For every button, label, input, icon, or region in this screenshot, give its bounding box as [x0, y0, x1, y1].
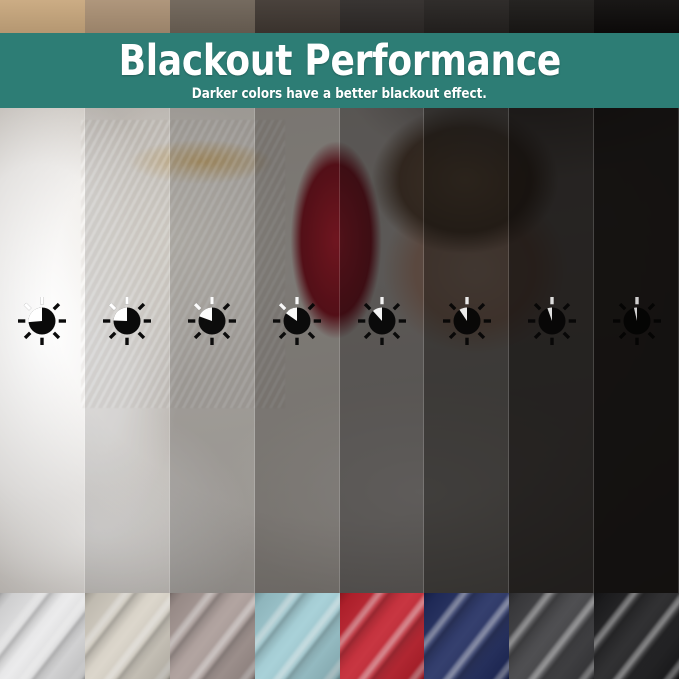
fabric-shading	[255, 593, 340, 679]
color-chip-near-black	[424, 0, 509, 33]
color-chip-black	[594, 0, 679, 33]
fabric-swatch-cream	[85, 593, 170, 679]
fabric-swatch-white	[0, 593, 85, 679]
page-title: Blackout Performance	[118, 40, 560, 83]
page-subtitle: Darker colors have a better blackout eff…	[192, 87, 487, 101]
color-chip-dark-brown	[255, 0, 340, 33]
color-chip-warm-taupe	[85, 0, 170, 33]
fabric-swatch-black	[594, 593, 679, 679]
fabric-shading	[85, 593, 170, 679]
fabric-swatch-charcoal	[509, 593, 594, 679]
fabric-swatch-navy	[424, 593, 509, 679]
fabric-color-swatches	[0, 593, 679, 679]
fabric-shading	[424, 593, 509, 679]
fabric-shading	[340, 593, 425, 679]
fabric-shading	[509, 593, 594, 679]
fabric-shading	[0, 593, 85, 679]
fabric-swatch-taupe	[170, 593, 255, 679]
fabric-swatch-light-blue	[255, 593, 340, 679]
color-chip-darker-black	[509, 0, 594, 33]
fabric-shading	[594, 593, 679, 679]
headline-banner: Blackout Performance Darker colors have …	[0, 33, 679, 108]
color-chip-deep-charcoal	[340, 0, 425, 33]
color-chip-tan	[0, 0, 85, 33]
color-chip-grey-brown	[170, 0, 255, 33]
fabric-swatch-red	[340, 593, 425, 679]
fabric-shading	[170, 593, 255, 679]
blackout-performance-infographic: Blackout Performance Darker colors have …	[0, 0, 679, 679]
color-gradient-strip	[0, 0, 679, 33]
